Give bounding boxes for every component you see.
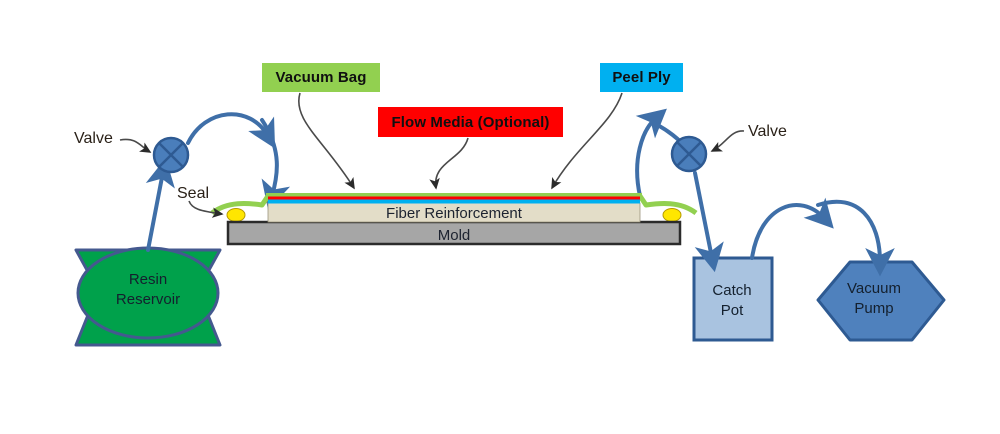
label-valve-right: Valve	[748, 124, 787, 140]
vacuum-bag-top-film	[266, 193, 642, 197]
flow-media-film	[268, 196, 640, 200]
tube-layup-to-valve-right	[637, 118, 656, 196]
label-fiber-reinforcement: Fiber Reinforcement	[228, 206, 680, 221]
label-peel-ply: Peel Ply	[600, 63, 683, 92]
valve-right	[672, 137, 706, 171]
leader-flow-media	[436, 138, 468, 188]
leader-valve-left	[120, 139, 150, 152]
valve-left	[154, 138, 188, 172]
leader-vacuum-bag	[299, 93, 354, 188]
leader-valve-right	[712, 131, 744, 151]
vacuum-infusion-diagram: Vacuum Bag Flow Media (Optional) Peel Pl…	[0, 0, 1000, 434]
tube-valve-to-layup-left	[188, 114, 268, 143]
tube-catchpot-to-pump	[752, 205, 824, 258]
label-catch-pot: Catch Pot	[692, 281, 772, 321]
peel-ply-film	[268, 199, 640, 204]
label-mold: Mold	[228, 228, 680, 243]
label-valve-left: Valve	[74, 131, 113, 147]
tube-reservoir-to-valve	[148, 172, 163, 250]
label-vacuum-pump: Vacuum Pump	[808, 279, 940, 319]
label-flow-media: Flow Media (Optional)	[378, 107, 563, 137]
label-seal: Seal	[177, 186, 209, 202]
tube-valve-to-catchpot	[695, 173, 712, 258]
tube-pump-inlet	[818, 202, 880, 262]
label-resin-reservoir: Resin Reservoir	[78, 270, 218, 310]
label-vacuum-bag: Vacuum Bag	[262, 63, 380, 92]
